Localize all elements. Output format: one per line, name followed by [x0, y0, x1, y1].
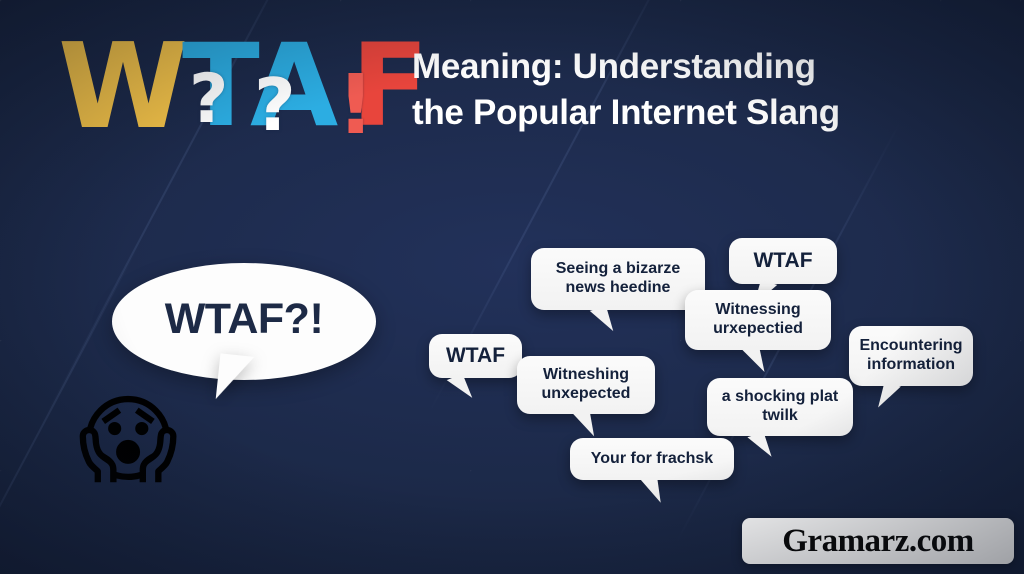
speech-bubble-text: Seeing a bizarze news heedine [543, 260, 693, 298]
question-mark-icon: ? [189, 60, 228, 139]
main-speech-bubble-tail [216, 353, 255, 402]
exclamation-mark-icon: ! [337, 58, 374, 153]
watermark-text: Gramarz.com [782, 523, 974, 560]
wtaf-logo: W T A F ? ? ! [58, 36, 403, 142]
speech-bubble-witnessing: Witnessing urxepectied [685, 290, 831, 350]
logo-letter-w: W [58, 33, 185, 139]
watermark-badge: Gramarz.com [742, 518, 1014, 564]
title-line-2: the Popular Internet Slang [412, 90, 972, 136]
speech-bubble-seeing: Seeing a bizarze news heedine [531, 248, 705, 310]
speech-bubble-encountering: Encountering information [849, 326, 973, 386]
speech-bubble-shocking: a shocking plat twilk [707, 378, 853, 436]
main-speech-bubble-text: WTAF?! [165, 295, 324, 348]
speech-bubble-tail [447, 374, 473, 404]
speech-bubble-tail [573, 411, 594, 440]
speech-bubble-text: Encountering information [859, 337, 962, 375]
speech-bubble-text: Your for frachsk [591, 450, 713, 469]
infographic-canvas: W T A F ? ? ! Meaning: Understanding the… [0, 0, 1024, 574]
speech-bubble-tail [742, 347, 764, 376]
speech-bubble-wtaf-top: WTAF [729, 238, 837, 284]
speech-bubble-tail [640, 477, 660, 505]
speech-bubble-tail [590, 306, 614, 336]
page-title: Meaning: Understanding the Popular Inter… [412, 44, 972, 136]
speech-bubble-wtaf-left: WTAF [429, 334, 522, 378]
speech-bubble-tail [878, 382, 901, 411]
speech-bubble-text: Witneshing unxepected [529, 366, 643, 404]
speech-bubble-text: a shocking plat twilk [719, 388, 841, 426]
speech-bubble-tail [747, 432, 771, 462]
face-screaming-in-fear-icon: 😱 [78, 392, 178, 488]
question-mark-icon: ? [254, 63, 296, 147]
speech-bubble-your-for: Your for frachsk [570, 438, 734, 480]
speech-bubble-text: WTAF [446, 344, 505, 369]
speech-bubble-text: WTAF [753, 249, 812, 274]
speech-bubble-witneshing: Witneshing unxepected [517, 356, 655, 414]
title-line-1: Meaning: Understanding [412, 47, 816, 86]
speech-bubble-text: Witnessing urxepectied [697, 301, 819, 339]
